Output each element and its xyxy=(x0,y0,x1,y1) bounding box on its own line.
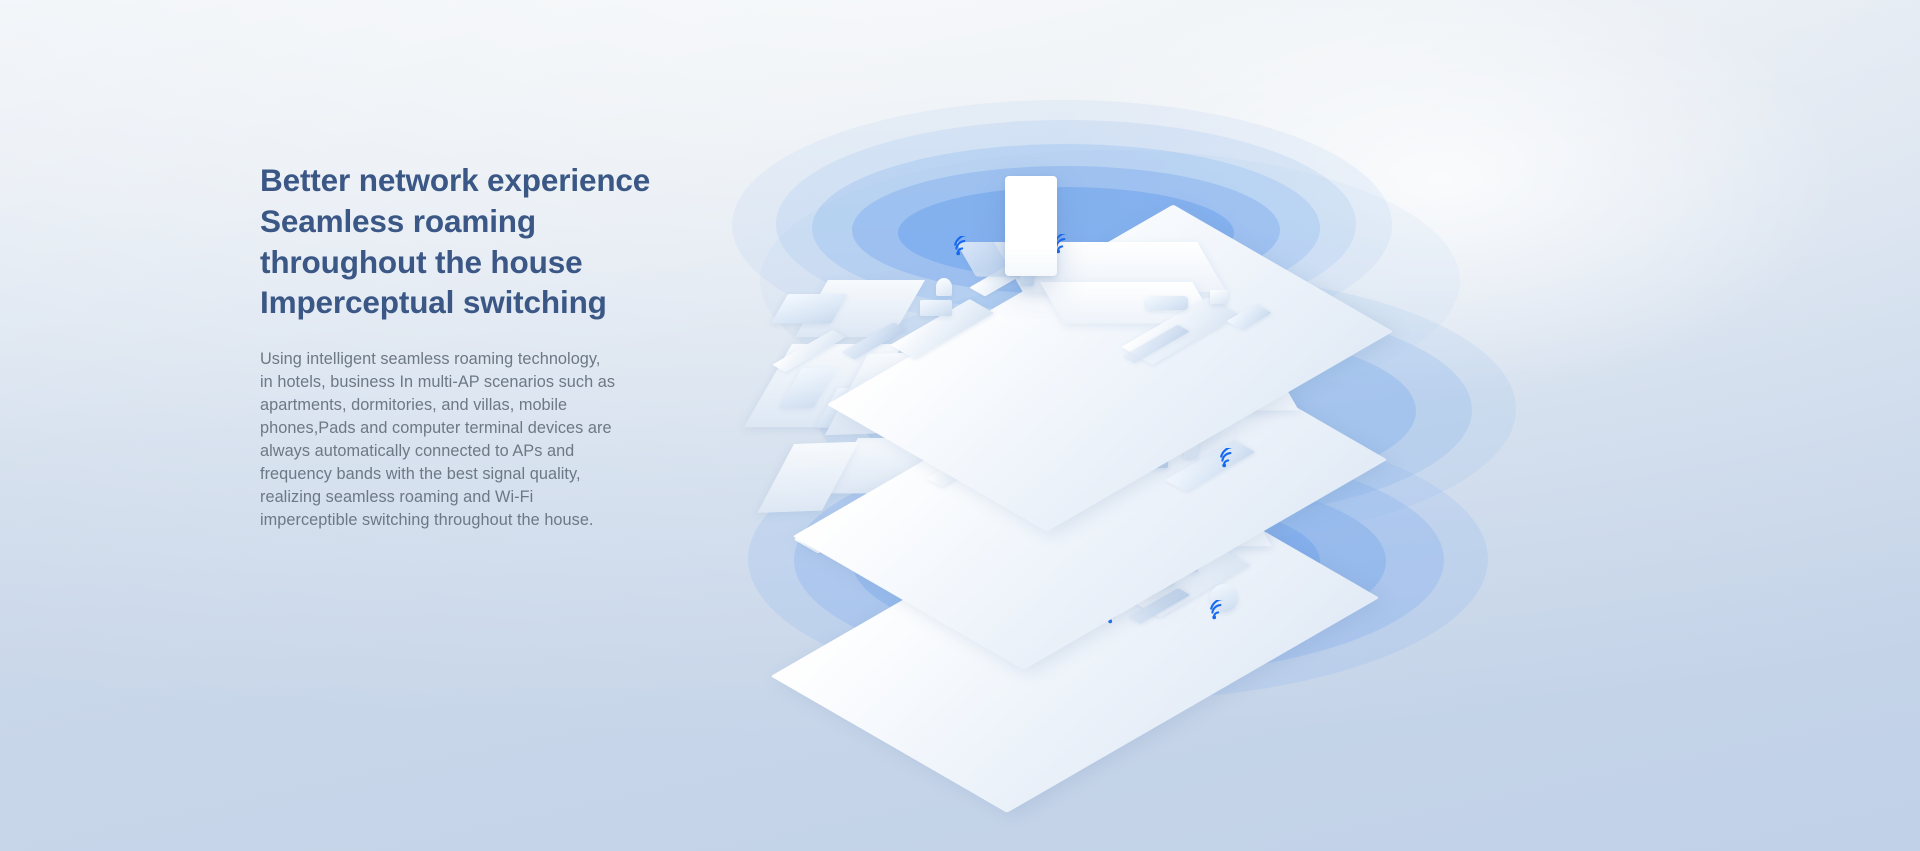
body-line-3: apartments, dormitories, and villas, mob… xyxy=(260,394,652,417)
prop-desk-lamp xyxy=(936,278,952,296)
body-line-6: frequency bands with the best signal qua… xyxy=(260,463,652,486)
headline-line-3: throughout the house xyxy=(260,242,680,283)
headline-line-4: Imperceptual switching xyxy=(260,282,680,323)
description-paragraph: Using intelligent seamless roaming techn… xyxy=(260,348,652,532)
body-line-2: in hotels, business In multi-AP scenario… xyxy=(260,371,652,394)
prop-bed-pillows-top xyxy=(1146,296,1188,310)
headline-line-1: Better network experience xyxy=(260,160,680,201)
ap-panel-top xyxy=(1005,176,1057,276)
prop-sofa-cushion-top xyxy=(920,300,952,316)
wifi-icon-middle-right xyxy=(1220,448,1242,468)
wifi-icon-top-right xyxy=(1054,234,1076,254)
body-line-1: Using intelligent seamless roaming techn… xyxy=(260,348,652,371)
hero-text-column: Better network experience Seamless roami… xyxy=(260,160,680,532)
headline-line-2: Seamless roaming xyxy=(260,201,680,242)
wifi-icon-top-left xyxy=(954,236,976,256)
house-illustration xyxy=(740,92,1540,692)
page-title: Better network experience Seamless roami… xyxy=(260,160,680,323)
body-line-5: always automatically connected to APs an… xyxy=(260,440,652,463)
prop-nightstand-top xyxy=(1210,290,1228,304)
body-line-8: imperceptible switching throughout the h… xyxy=(260,509,652,532)
body-line-7: realizing seamless roaming and Wi-Fi xyxy=(260,486,652,509)
wifi-icon-bottom-right xyxy=(1210,600,1232,620)
body-line-4: phones,Pads and computer terminal device… xyxy=(260,417,652,440)
